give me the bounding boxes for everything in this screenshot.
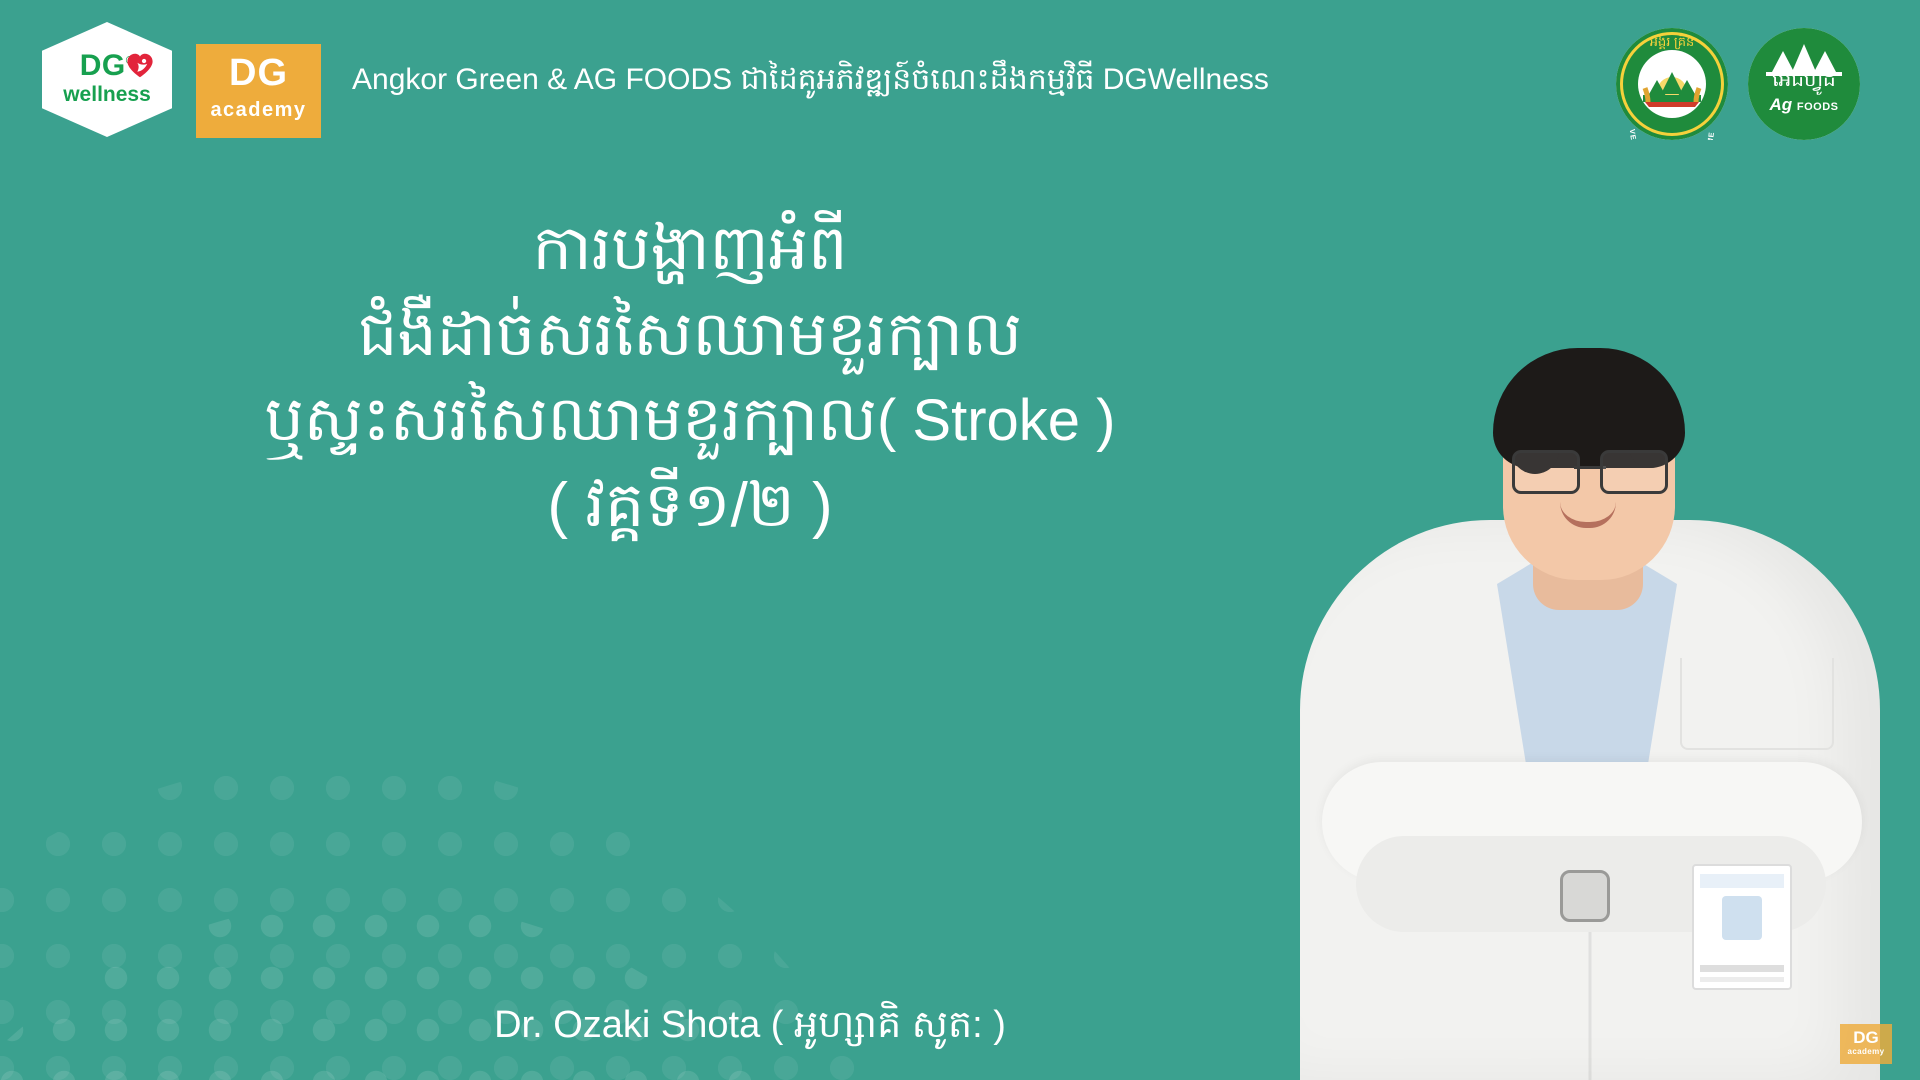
dg-academy-watermark: DG academy <box>1840 1024 1892 1064</box>
eyeglasses-icon <box>1512 450 1668 490</box>
wristwatch-icon <box>1560 870 1610 922</box>
dg-academy-academy-label: academy <box>196 100 321 120</box>
title-line-2: ជំងឺដាច់សរសៃឈាមខួរក្បាល <box>0 292 1380 378</box>
id-badge <box>1692 864 1792 990</box>
watermark-academy-label: academy <box>1840 1048 1892 1056</box>
title-line-3: ឬស្ទះសរសៃឈាមខួរក្បាល( Stroke ) <box>0 377 1380 463</box>
dg-academy-dg-label: DG <box>196 54 321 92</box>
header-banner-text: Angkor Green & AG FOODS ជាដៃគូអភិវឌ្ឍន៍ច… <box>352 62 1572 98</box>
dg-wellness-dg-label: DG <box>80 49 126 82</box>
ag-foods-suffix: FOODS <box>1797 101 1839 113</box>
presentation-slide: DG® wellness DG academy Angkor Green & A… <box>0 0 1920 1080</box>
svg-text:INVESTMENT AND DEVELOPMENT: INVESTMENT AND DEVELOPMENT <box>1616 28 1716 140</box>
seal-ring-text: INVESTMENT AND DEVELOPMENT <box>1616 28 1728 140</box>
ag-brand-text: Ag <box>1769 95 1792 114</box>
dg-wellness-logo: DG® wellness <box>42 22 172 137</box>
title-line-3-latin: ( Stroke ) <box>877 388 1116 453</box>
slide-title: ការបង្ហាញអំពី ជំងឺដាច់សរសៃឈាមខួរក្បាល ឬស… <box>0 206 1380 548</box>
angkor-green-seal: អង្គរ គ្រីន INVESTMENT AND DEVELOPMENT <box>1616 28 1728 140</box>
watermark-dg-label: DG <box>1840 1029 1892 1046</box>
title-line-3-khmer: ឬស្ទះសរសៃឈាមខួរក្បាល <box>265 385 877 454</box>
slide-header: DG® wellness DG academy Angkor Green & A… <box>0 0 1920 150</box>
title-line-1: ការបង្ហាញអំពី <box>0 206 1380 292</box>
ag-foods-brand-label: Ag FOODS <box>1748 96 1860 113</box>
coat-pocket <box>1680 658 1834 750</box>
heart-icon <box>125 52 155 79</box>
dg-wellness-wellness-label: wellness <box>42 84 172 105</box>
ag-foods-seal: អេជីហ្វូដ Ag FOODS <box>1748 28 1860 140</box>
presenter-name: Dr. Ozaki Shota ( អូហ្សាគិ សូត: ) <box>0 1000 1500 1056</box>
dg-academy-logo: DG academy <box>196 44 321 138</box>
title-line-4: ( វគ្គទី១/២ ) <box>0 463 1380 549</box>
ag-foods-khmer-label: អេជីហ្វូដ <box>1748 70 1860 90</box>
